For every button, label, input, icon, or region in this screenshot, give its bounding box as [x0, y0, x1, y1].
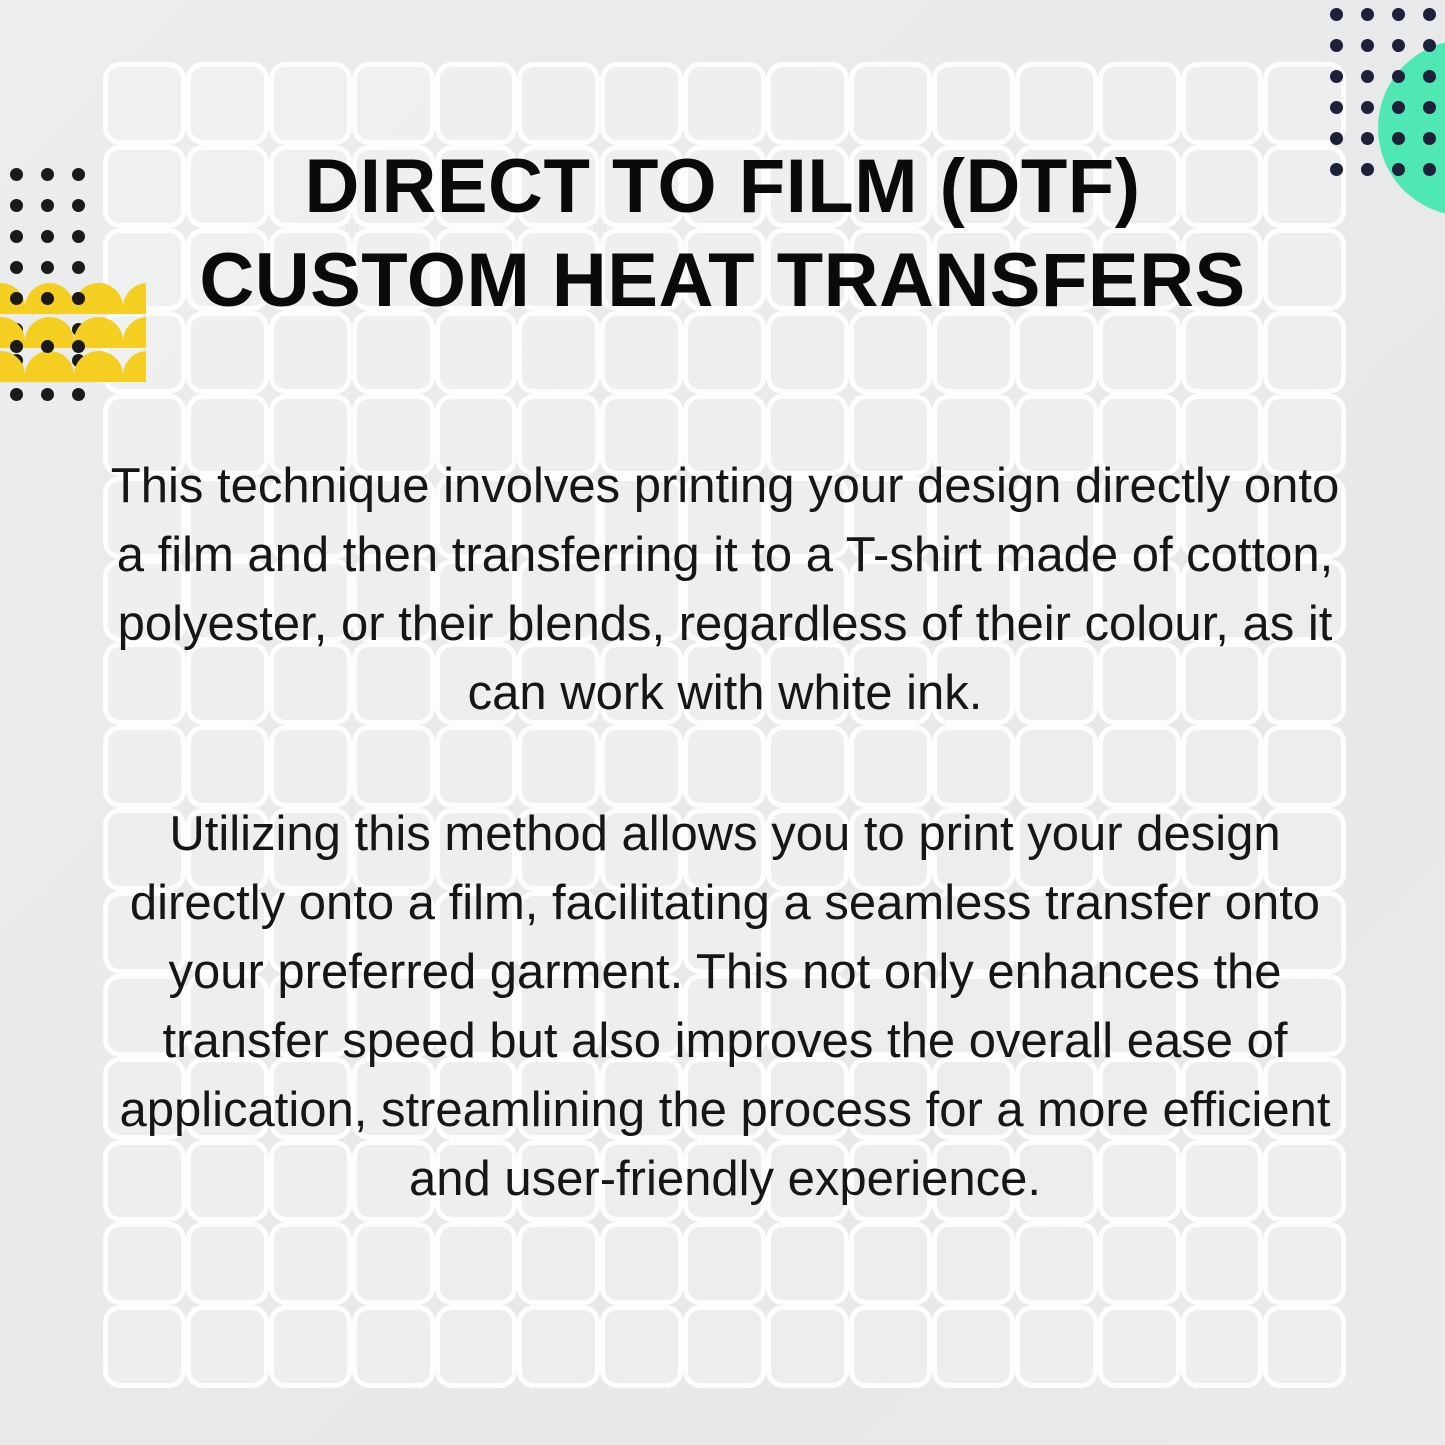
- body-copy: This technique involves printing your de…: [100, 452, 1350, 1214]
- page-title: DIRECT TO FILM (DTF) CUSTOM HEAT TRANSFE…: [90, 140, 1355, 328]
- title-line-1: DIRECT TO FILM (DTF): [90, 140, 1355, 234]
- content-layer: DIRECT TO FILM (DTF) CUSTOM HEAT TRANSFE…: [0, 0, 1445, 1445]
- poster-canvas: DIRECT TO FILM (DTF) CUSTOM HEAT TRANSFE…: [0, 0, 1445, 1445]
- paragraph-1: This technique involves printing your de…: [100, 452, 1350, 728]
- paragraph-2: Utilizing this method allows you to prin…: [100, 800, 1350, 1214]
- title-line-2: CUSTOM HEAT TRANSFERS: [90, 234, 1355, 328]
